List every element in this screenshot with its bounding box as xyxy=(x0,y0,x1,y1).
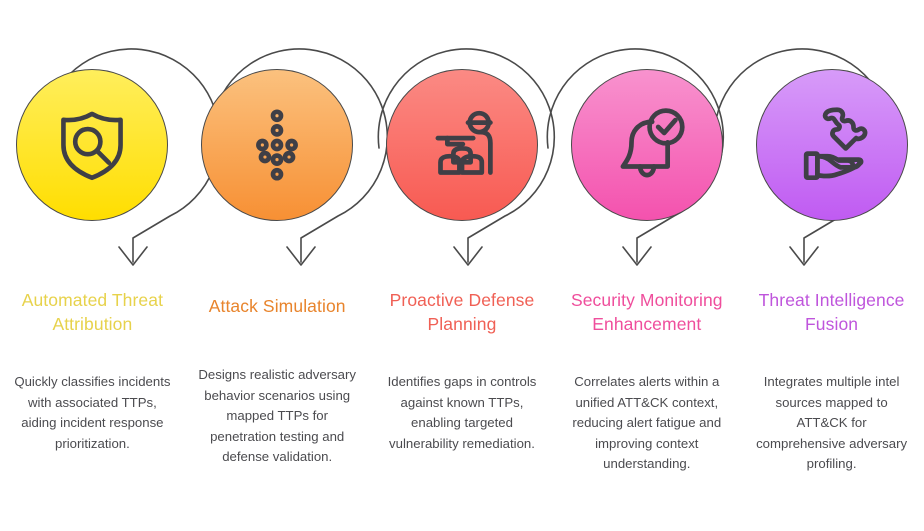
step-circle-1[interactable] xyxy=(16,69,168,221)
soldier-barricade-icon xyxy=(419,102,505,188)
step-column-2: Attack Simulation Designs realistic adve… xyxy=(185,0,370,531)
step-circle-4[interactable] xyxy=(571,69,723,221)
steps-row: Automated Threat Attribution Quickly cla… xyxy=(0,0,924,531)
step-body-3: Identifies gaps in controls against know… xyxy=(382,372,543,454)
step-column-5: Threat Intelligence Fusion Integrates mu… xyxy=(739,0,924,531)
step-circle-2[interactable] xyxy=(201,69,353,221)
step-circle-wrap-4 xyxy=(571,69,723,221)
bell-check-icon xyxy=(604,102,690,188)
step-circle-wrap-2 xyxy=(201,69,353,221)
step-body-1: Quickly classifies incidents with associ… xyxy=(12,372,173,454)
dotted-down-arrow-icon xyxy=(234,102,320,188)
step-circle-wrap-1 xyxy=(16,69,168,221)
step-circle-wrap-5 xyxy=(756,69,908,221)
step-column-4: Security Monitoring Enhancement Correlat… xyxy=(554,0,739,531)
shield-search-icon xyxy=(50,103,134,187)
step-circle-3[interactable] xyxy=(386,69,538,221)
step-body-4: Correlates alerts within a unified ATT&C… xyxy=(566,372,727,475)
step-title-4: Security Monitoring Enhancement xyxy=(562,288,731,336)
step-title-2: Attack Simulation xyxy=(193,294,362,318)
step-column-3: Proactive Defense Planning Identifies ga… xyxy=(370,0,555,531)
infographic-canvas: Automated Threat Attribution Quickly cla… xyxy=(0,0,924,531)
step-title-5: Threat Intelligence Fusion xyxy=(747,288,916,336)
hand-puzzle-icon xyxy=(789,102,875,188)
step-title-3: Proactive Defense Planning xyxy=(378,288,547,336)
step-circle-5[interactable] xyxy=(756,69,908,221)
step-column-1: Automated Threat Attribution Quickly cla… xyxy=(0,0,185,531)
step-body-5: Integrates multiple intel sources mapped… xyxy=(751,372,912,475)
step-title-1: Automated Threat Attribution xyxy=(8,288,177,336)
step-circle-wrap-3 xyxy=(386,69,538,221)
step-body-2: Designs realistic adversary behavior sce… xyxy=(197,365,358,468)
